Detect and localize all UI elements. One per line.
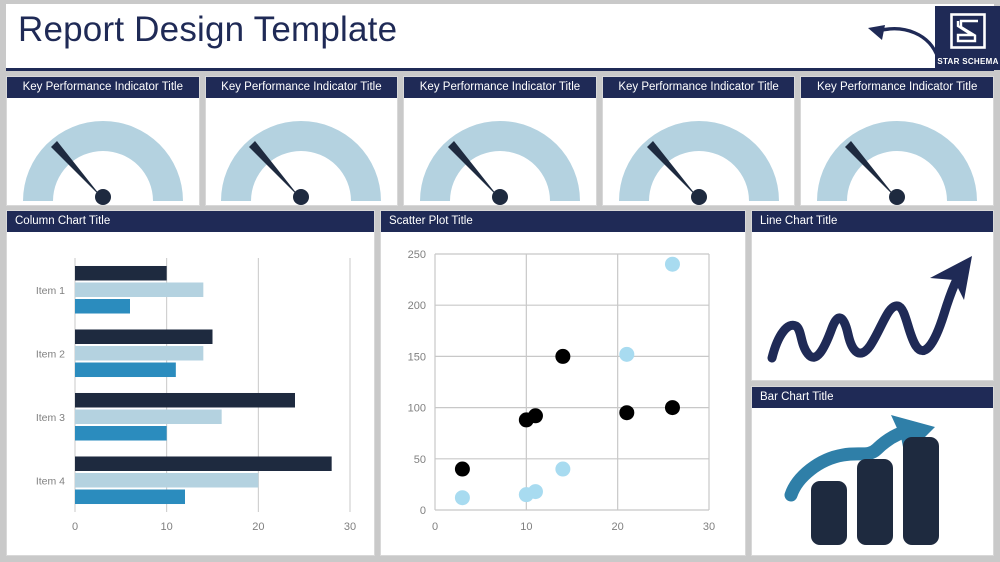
kpi-card-2[interactable]: Key Performance Indicator Title xyxy=(205,76,399,206)
kpi-card-3-body xyxy=(404,98,596,205)
curved-left-arrow-icon xyxy=(858,16,944,64)
gauge-icon xyxy=(807,109,987,205)
svg-text:150: 150 xyxy=(408,351,426,363)
column-chart-panel[interactable]: Column Chart Title 0102030Item 1Item 2It… xyxy=(6,210,375,556)
bar-chart-body xyxy=(752,408,993,556)
star-schema-logo: STAR SCHEMA xyxy=(935,6,1000,70)
column-chart-body: 0102030Item 1Item 2Item 3Item 4 xyxy=(7,232,374,555)
kpi-card-1[interactable]: Key Performance Indicator Title xyxy=(6,76,200,206)
svg-text:0: 0 xyxy=(432,521,438,533)
gauge-icon xyxy=(211,109,391,205)
kpi-card-5[interactable]: Key Performance Indicator Title xyxy=(800,76,994,206)
bar-chart-title: Bar Chart Title xyxy=(752,387,993,408)
kpi-card-5-body xyxy=(801,98,993,205)
kpi-card-4[interactable]: Key Performance Indicator Title xyxy=(602,76,796,206)
kpi-card-5-title: Key Performance Indicator Title xyxy=(801,77,993,98)
scatter-plot-panel[interactable]: Scatter Plot Title 050100150200250010203… xyxy=(380,210,746,556)
kpi-card-3[interactable]: Key Performance Indicator Title xyxy=(403,76,597,206)
column-chart-title: Column Chart Title xyxy=(7,211,374,232)
svg-text:200: 200 xyxy=(408,300,426,312)
svg-text:Item 3: Item 3 xyxy=(36,412,65,424)
svg-text:30: 30 xyxy=(344,521,356,533)
svg-text:10: 10 xyxy=(161,521,173,533)
svg-text:100: 100 xyxy=(408,403,426,415)
panels-row: Column Chart Title 0102030Item 1Item 2It… xyxy=(6,210,994,556)
gauge-icon xyxy=(410,109,590,205)
logo-text: STAR SCHEMA xyxy=(937,57,999,66)
svg-text:0: 0 xyxy=(420,505,426,517)
svg-text:20: 20 xyxy=(612,521,624,533)
kpi-card-3-title: Key Performance Indicator Title xyxy=(404,77,596,98)
kpi-card-2-body xyxy=(206,98,398,205)
kpi-card-1-body xyxy=(7,98,199,205)
kpi-row: Key Performance Indicator Title Key Perf… xyxy=(6,76,994,206)
scatter-plot-body: 0501001502002500102030 xyxy=(381,232,745,555)
svg-text:Item 2: Item 2 xyxy=(36,348,65,360)
bar-chart-growth-icon xyxy=(773,411,973,551)
svg-text:0: 0 xyxy=(72,521,78,533)
upward-zigzag-arrow-icon xyxy=(758,242,988,370)
line-chart-body xyxy=(752,232,993,380)
bar-chart-panel[interactable]: Bar Chart Title xyxy=(751,386,994,557)
kpi-card-4-body xyxy=(603,98,795,205)
svg-text:50: 50 xyxy=(414,454,426,466)
svg-text:20: 20 xyxy=(252,521,264,533)
kpi-card-1-title: Key Performance Indicator Title xyxy=(7,77,199,98)
logo-background: STAR SCHEMA xyxy=(937,8,999,68)
title-bar: Report Design Template STAR SCHEMA xyxy=(6,4,994,68)
line-chart-title: Line Chart Title xyxy=(752,211,993,232)
right-panel-stack: Line Chart Title Bar Chart Title xyxy=(751,210,994,556)
report-page: Report Design Template STAR SCHEMA xyxy=(0,0,1000,562)
svg-text:30: 30 xyxy=(703,521,715,533)
kpi-card-4-title: Key Performance Indicator Title xyxy=(603,77,795,98)
kpi-card-2-title: Key Performance Indicator Title xyxy=(206,77,398,98)
logo-s-mark-icon xyxy=(950,13,986,49)
scatter-plot-title: Scatter Plot Title xyxy=(381,211,745,232)
gauge-icon xyxy=(13,109,193,205)
scatter-plot-svg: 0501001502002500102030 xyxy=(381,232,745,554)
title-divider xyxy=(6,68,994,71)
line-chart-panel[interactable]: Line Chart Title xyxy=(751,210,994,381)
column-chart-svg: 0102030Item 1Item 2Item 3Item 4 xyxy=(7,232,374,554)
svg-text:Item 1: Item 1 xyxy=(36,285,65,297)
gauge-icon xyxy=(609,109,789,205)
svg-text:Item 4: Item 4 xyxy=(36,475,65,487)
page-title: Report Design Template xyxy=(18,10,397,50)
svg-text:10: 10 xyxy=(520,521,532,533)
svg-text:250: 250 xyxy=(408,249,426,261)
